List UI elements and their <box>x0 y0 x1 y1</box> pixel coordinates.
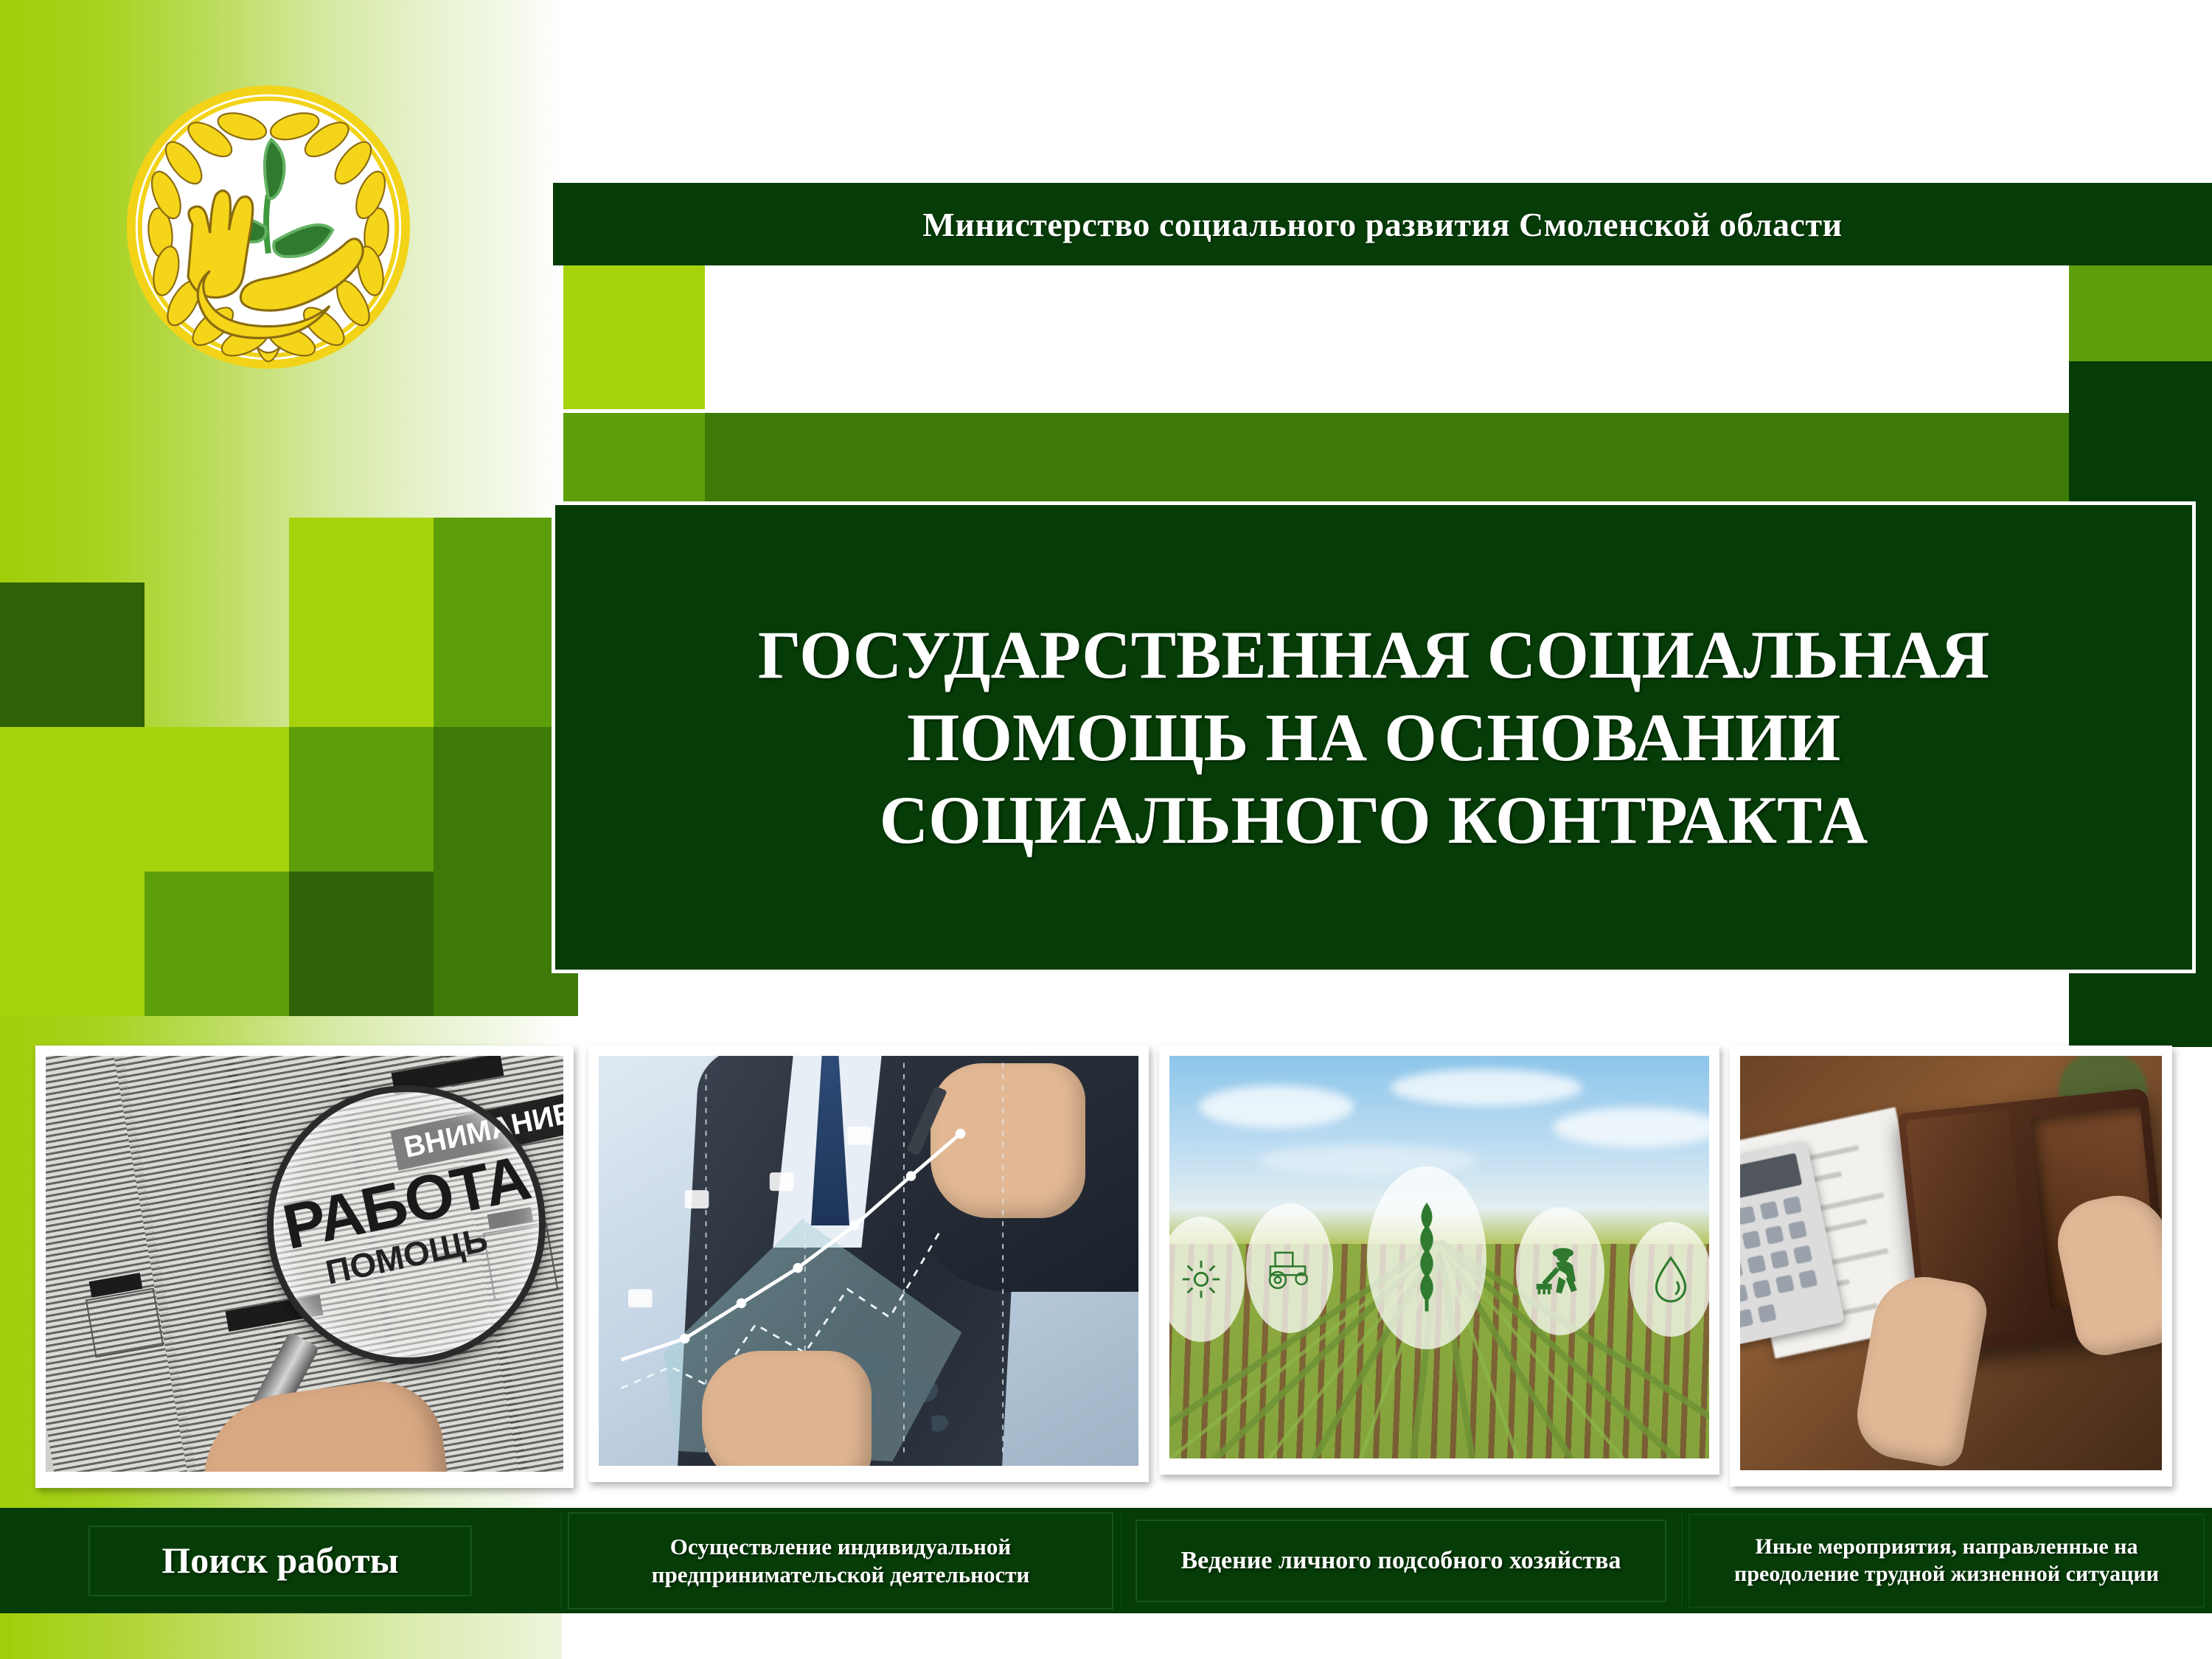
ministry-logo <box>122 81 414 373</box>
business-growth-photo <box>599 1056 1138 1466</box>
job-search-photo: ВНИМАНИЕ РАБОТА ПОМОЩЬ <box>46 1056 563 1472</box>
magnifier-icon: РАБОТА ПОМОЩЬ <box>267 1085 546 1364</box>
water-drop-icon <box>1630 1222 1709 1337</box>
label-job-search-text: Поиск работы <box>161 1538 398 1583</box>
label-other-measures-text: Иные мероприятия, направленные на преодо… <box>1702 1534 2191 1587</box>
category-label-bar: Поиск работы Осуществление индивидуально… <box>0 1508 2212 1613</box>
farmer-icon <box>1516 1207 1604 1335</box>
empty-wallet-photo <box>1740 1056 2162 1470</box>
ministry-header-bar: Министерство социального развития Смолен… <box>553 183 2212 265</box>
label-other-measures[interactable]: Иные мероприятия, направленные на преодо… <box>1681 1508 2212 1613</box>
job-search-photo-card: ВНИМАНИЕ РАБОТА ПОМОЩЬ <box>35 1046 574 1488</box>
ministry-header-title: Министерство социального развития Смолен… <box>922 205 1842 244</box>
slide-title: ГОСУДАРСТВЕННАЯ СОЦИАЛЬНАЯ ПОМОЩЬ НА ОСН… <box>673 613 2074 862</box>
decor-block <box>2069 258 2212 361</box>
decor-block <box>289 872 434 1016</box>
business-photo-card <box>588 1046 1149 1482</box>
decor-block <box>0 727 145 1016</box>
wheat-icon <box>1367 1166 1486 1349</box>
agriculture-photo-card <box>1159 1046 1719 1475</box>
tractor-icon <box>1246 1203 1333 1333</box>
bottom-gradient-strip <box>0 1613 562 1659</box>
wallet-photo-card <box>1730 1046 2172 1486</box>
agriculture-field-photo <box>1169 1056 1709 1458</box>
photo-strip: ВНИМАНИЕ РАБОТА ПОМОЩЬ <box>35 1046 2181 1503</box>
ministry-emblem-icon <box>122 81 414 373</box>
slide-title-box: ГОСУДАРСТВЕННАЯ СОЦИАЛЬНАЯ ПОМОЩЬ НА ОСН… <box>552 501 2196 973</box>
decor-block <box>0 582 145 727</box>
label-household-text: Ведение личного подсобного хозяйства <box>1181 1545 1621 1576</box>
decor-block <box>145 872 289 1016</box>
label-household[interactable]: Ведение личного подсобного хозяйства <box>1121 1508 1681 1613</box>
decor-block <box>145 727 289 872</box>
decor-block <box>289 727 434 872</box>
label-entrepreneurship-text: Осуществление индивидуальной предпринима… <box>581 1533 1100 1589</box>
decor-block <box>563 258 705 409</box>
label-job-search[interactable]: Поиск работы <box>0 1508 560 1613</box>
decor-block <box>289 518 434 727</box>
label-entrepreneurship[interactable]: Осуществление индивидуальной предпринима… <box>560 1508 1121 1613</box>
